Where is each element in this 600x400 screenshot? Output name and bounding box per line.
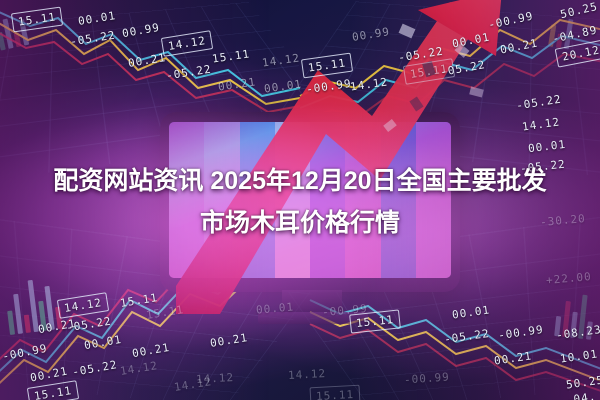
ticker-number: 14.12 bbox=[288, 367, 327, 382]
page-title-line-1: 配资网站资讯 2025年12月20日全国主要批发 bbox=[18, 160, 582, 202]
stock-market-banner-image: 15.11 00.01 -05.22 00.99 14.12 00.21 -05… bbox=[0, 0, 600, 400]
page-title: 配资网站资讯 2025年12月20日全国主要批发 市场木耳价格行情 bbox=[0, 160, 600, 244]
page-title-line-2: 市场木耳价格行情 bbox=[18, 202, 582, 244]
ticker-number: 15.11 bbox=[310, 385, 361, 400]
ticker-number: 14.12 bbox=[196, 371, 235, 386]
